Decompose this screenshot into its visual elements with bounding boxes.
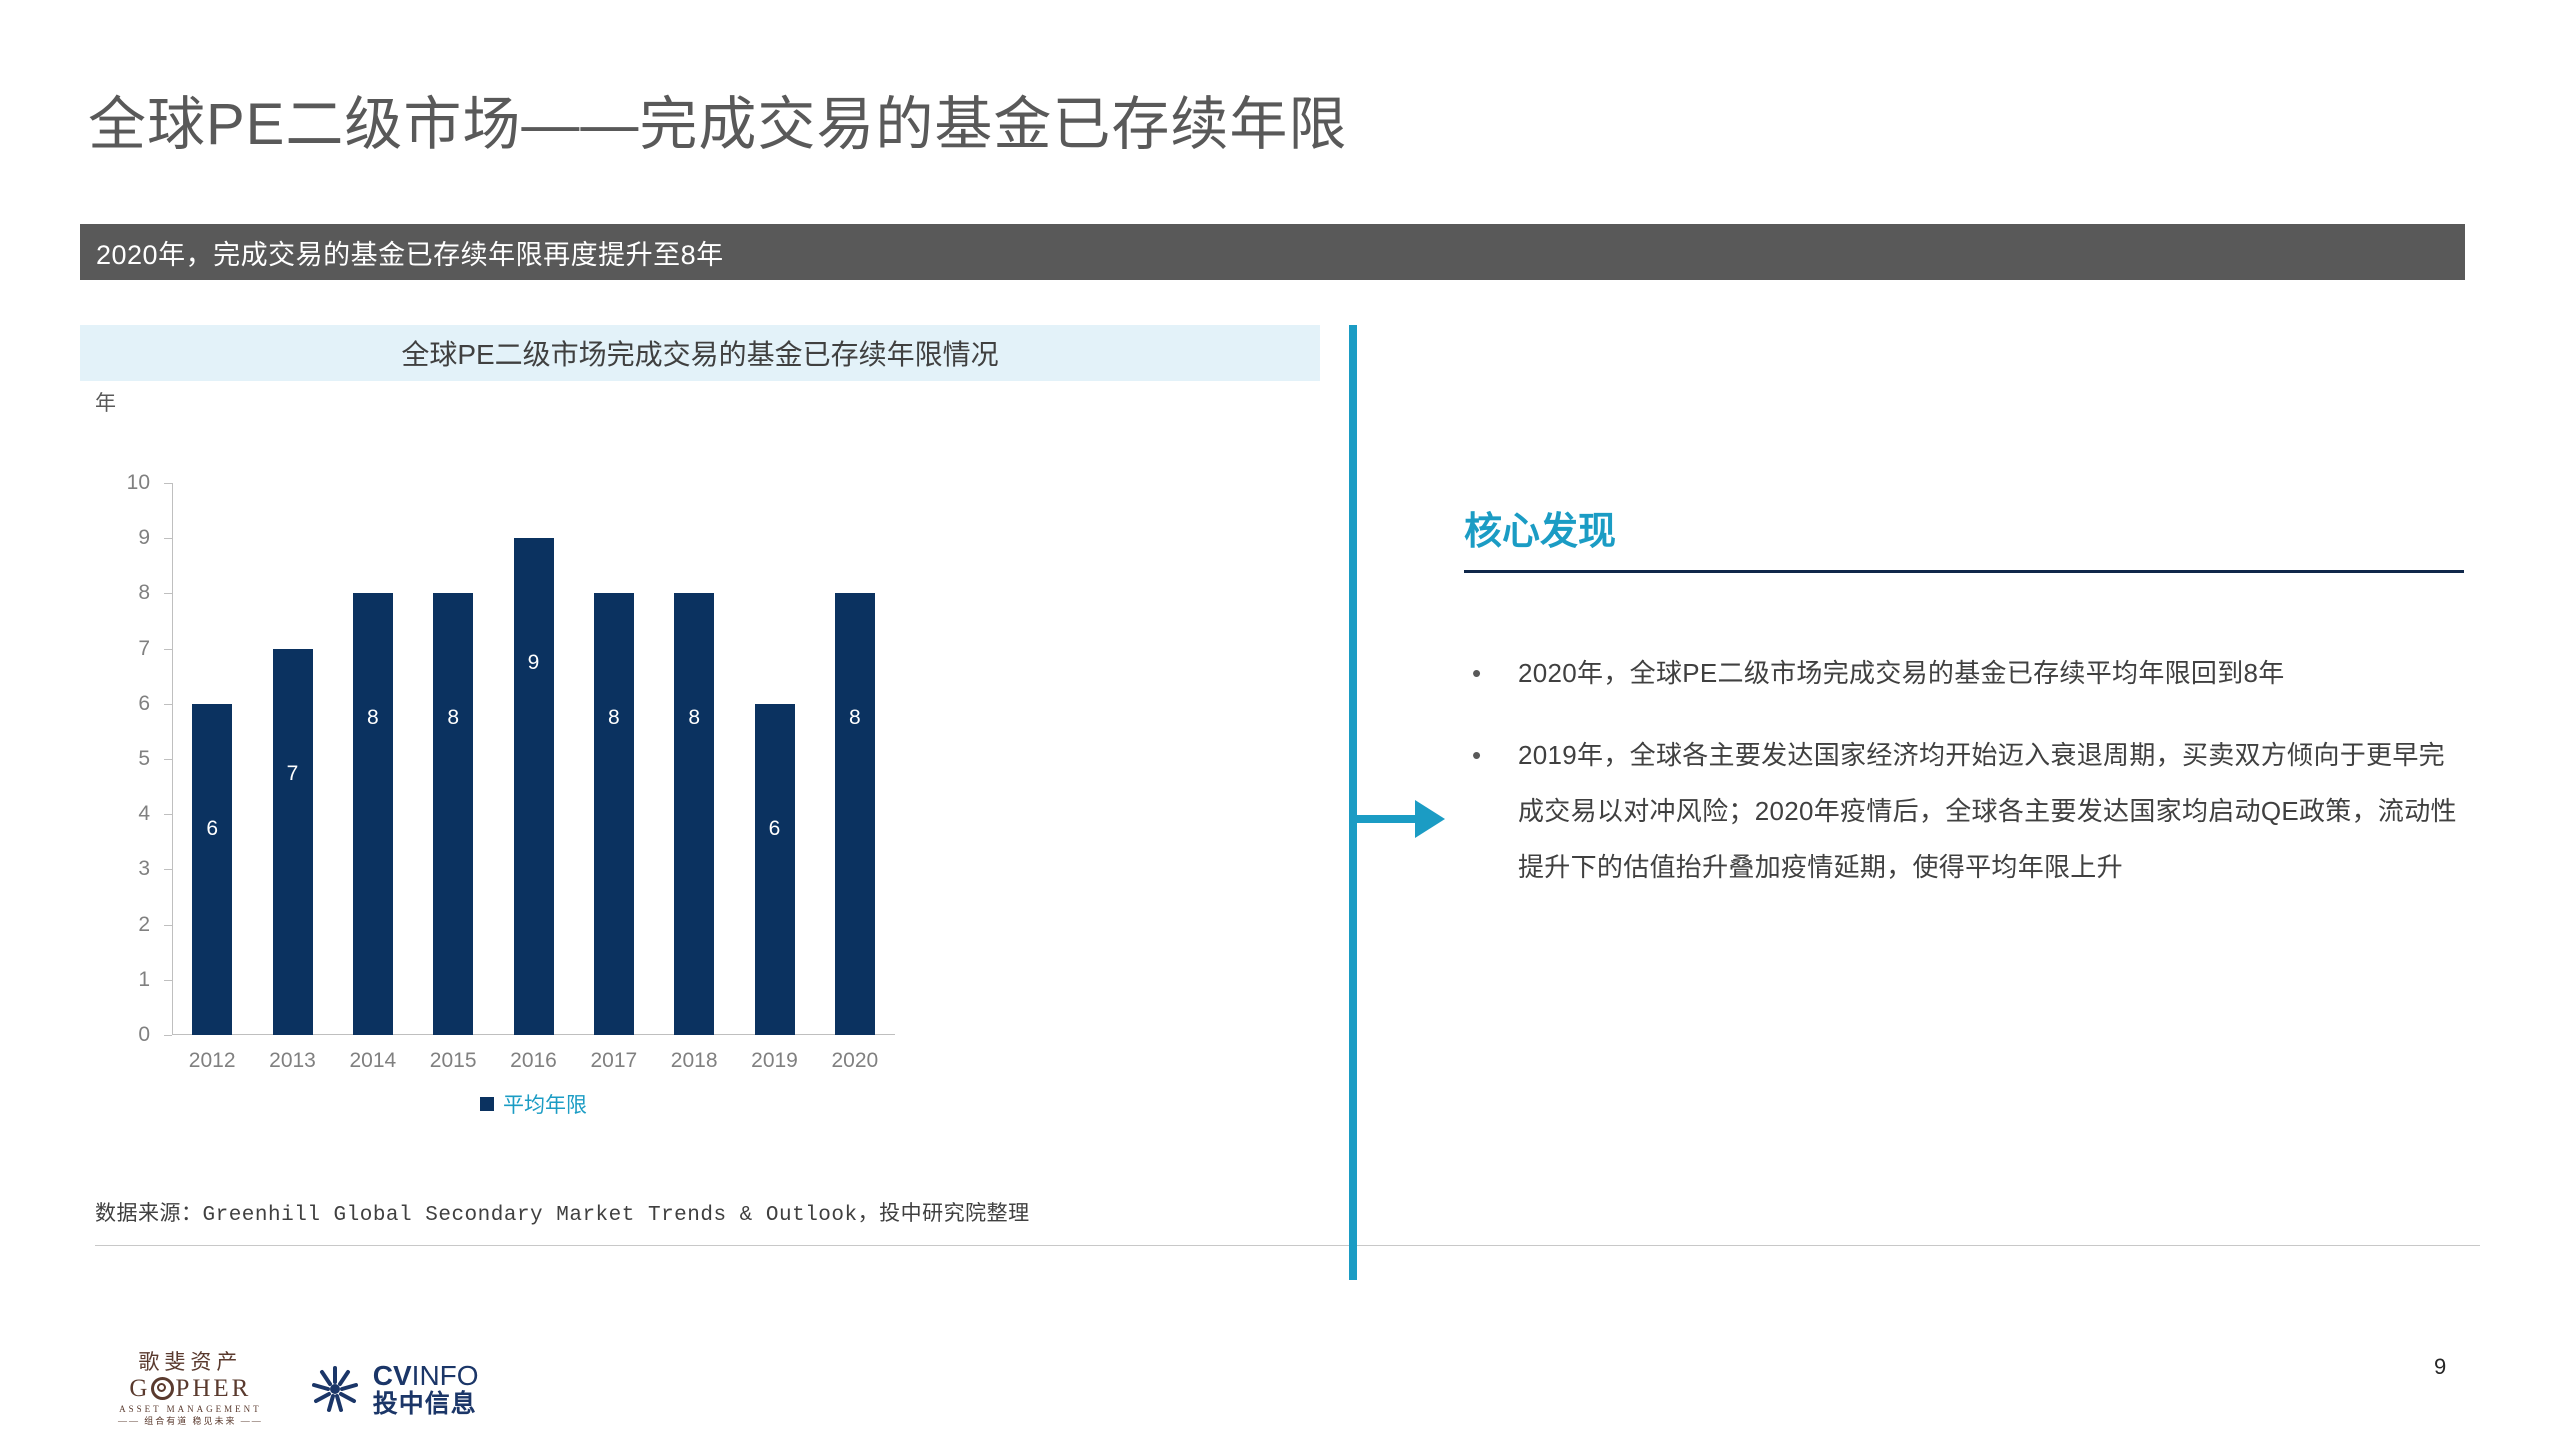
- list-item-text: 2020年，全球PE二级市场完成交易的基金已存续平均年限回到8年: [1518, 645, 2464, 701]
- x-tick-label: 2014: [349, 1049, 396, 1073]
- y-tick: 6: [164, 704, 172, 705]
- y-tick: 2: [164, 925, 172, 926]
- y-tick: 8: [164, 593, 172, 594]
- bar[interactable]: 8: [835, 593, 875, 1035]
- bar[interactable]: 6: [192, 704, 232, 1035]
- source-note: 数据来源：Greenhill Global Secondary Market T…: [95, 1197, 1030, 1227]
- y-tick: 0: [164, 1035, 172, 1036]
- chart-title: 全球PE二级市场完成交易的基金已存续年限情况: [401, 333, 998, 373]
- y-tick-label: 3: [138, 857, 150, 881]
- y-tick: 9: [164, 538, 172, 539]
- y-tick: 5: [164, 759, 172, 760]
- bar-value-label: 8: [353, 706, 393, 730]
- tree-ring-icon: [151, 1377, 174, 1400]
- x-tick-label: 2017: [590, 1049, 637, 1073]
- bar[interactable]: 8: [674, 593, 714, 1035]
- cvinfo-logo-en-thin: INFO: [412, 1360, 479, 1391]
- vertical-divider-line: [1349, 325, 1357, 1280]
- y-tick-label: 10: [127, 471, 150, 495]
- y-tick-label: 4: [138, 802, 150, 826]
- page-title: 全球PE二级市场——完成交易的基金已存续年限: [88, 92, 1347, 159]
- chart-panel: 全球PE二级市场完成交易的基金已存续年限情况 年 0 1 2 3 4 5 6 7…: [80, 325, 1320, 1285]
- y-tick-label: 1: [138, 968, 150, 992]
- x-tick-label: 2015: [430, 1049, 477, 1073]
- bar[interactable]: 7: [273, 649, 313, 1035]
- bar-value-label: 6: [192, 817, 232, 841]
- cvinfo-logo-text: CVINFO 投中信息: [373, 1361, 479, 1417]
- bar-value-label: 7: [273, 762, 313, 786]
- list-item: • 2019年，全球各主要发达国家经济均开始迈入衰退周期，买卖双方倾向于更早完成…: [1464, 727, 2464, 895]
- gopher-logo-en-left: G: [129, 1376, 150, 1401]
- plot-area: 0 1 2 3 4 5 6 7 8 9 10 6 7 8 8 9 8 8 6 8…: [172, 483, 895, 1035]
- cvinfo-logo: CVINFO 投中信息: [307, 1361, 479, 1417]
- y-tick: 10: [164, 483, 172, 484]
- bar-value-label: 8: [594, 706, 634, 730]
- gopher-logo-tagline: —— 组合有道 稳见未来 ——: [118, 1417, 263, 1426]
- bar[interactable]: 8: [433, 593, 473, 1035]
- chart-title-band: 全球PE二级市场完成交易的基金已存续年限情况: [80, 325, 1320, 381]
- bar[interactable]: 8: [594, 593, 634, 1035]
- list-item-text: 2019年，全球各主要发达国家经济均开始迈入衰退周期，买卖双方倾向于更早完成交易…: [1518, 727, 2464, 895]
- y-tick-label: 8: [138, 581, 150, 605]
- x-tick-label: 2013: [269, 1049, 316, 1073]
- bullet-icon: •: [1464, 727, 1518, 783]
- bar-value-label: 8: [835, 706, 875, 730]
- chart-legend: 平均年限: [172, 1089, 895, 1119]
- y-tick: 7: [164, 649, 172, 650]
- list-item: • 2020年，全球PE二级市场完成交易的基金已存续平均年限回到8年: [1464, 645, 2464, 701]
- legend-label: 平均年限: [503, 1089, 587, 1119]
- y-tick-label: 7: [138, 637, 150, 661]
- gopher-logo-en-right: PHER: [175, 1376, 251, 1401]
- findings-panel: 核心发现 • 2020年，全球PE二级市场完成交易的基金已存续平均年限回到8年 …: [1464, 510, 2464, 921]
- arrow-shaft-icon: [1357, 815, 1419, 823]
- y-axis-line: [172, 483, 173, 1035]
- y-tick: 1: [164, 980, 172, 981]
- legend-swatch-icon: [480, 1097, 494, 1111]
- y-tick-label: 0: [138, 1023, 150, 1047]
- bar-value-label: 8: [433, 706, 473, 730]
- findings-list: • 2020年，全球PE二级市场完成交易的基金已存续平均年限回到8年 • 201…: [1464, 645, 2464, 895]
- gopher-logo-cn: 歌斐资产: [118, 1352, 263, 1373]
- cvinfo-logo-en-bold: CV: [373, 1360, 412, 1391]
- y-tick-label: 9: [138, 526, 150, 550]
- bullet-icon: •: [1464, 645, 1518, 701]
- x-tick-label: 2016: [510, 1049, 557, 1073]
- arrow-right-icon: [1415, 800, 1445, 838]
- bar-value-label: 6: [755, 817, 795, 841]
- gopher-logo-sub: ASSET MANAGEMENT: [118, 1405, 263, 1414]
- bar-value-label: 8: [674, 706, 714, 730]
- x-tick-label: 2019: [751, 1049, 798, 1073]
- y-tick: 3: [164, 869, 172, 870]
- y-tick: 4: [164, 814, 172, 815]
- bar[interactable]: 6: [755, 704, 795, 1035]
- bar[interactable]: 8: [353, 593, 393, 1035]
- findings-heading: 核心发现: [1464, 510, 2464, 556]
- x-tick-label: 2020: [831, 1049, 878, 1073]
- bar-value-label: 9: [514, 651, 554, 675]
- x-tick-label: 2018: [671, 1049, 718, 1073]
- subtitle-text: 2020年，完成交易的基金已存续年限再度提升至8年: [80, 233, 724, 272]
- subtitle-band: 2020年，完成交易的基金已存续年限再度提升至8年: [80, 224, 2465, 280]
- source-divider: [95, 1245, 2480, 1246]
- y-tick-label: 2: [138, 913, 150, 937]
- gopher-asset-logo: 歌斐资产 G PHER ASSET MANAGEMENT —— 组合有道 稳见未…: [118, 1352, 263, 1426]
- y-tick-label: 6: [138, 692, 150, 716]
- y-tick-label: 5: [138, 747, 150, 771]
- page-number: 9: [2434, 1354, 2446, 1380]
- cvinfo-logo-en: CVINFO: [373, 1360, 479, 1391]
- x-tick-label: 2012: [189, 1049, 236, 1073]
- findings-divider: [1464, 570, 2464, 573]
- bar[interactable]: 9: [514, 538, 554, 1035]
- y-axis-unit-label: 年: [95, 387, 116, 417]
- gopher-logo-en: G PHER: [118, 1376, 263, 1401]
- footer-logos: 歌斐资产 G PHER ASSET MANAGEMENT —— 组合有道 稳见未…: [118, 1352, 479, 1426]
- cvinfo-logo-cn: 投中信息: [373, 1391, 479, 1417]
- cvinfo-starburst-icon: [307, 1361, 363, 1417]
